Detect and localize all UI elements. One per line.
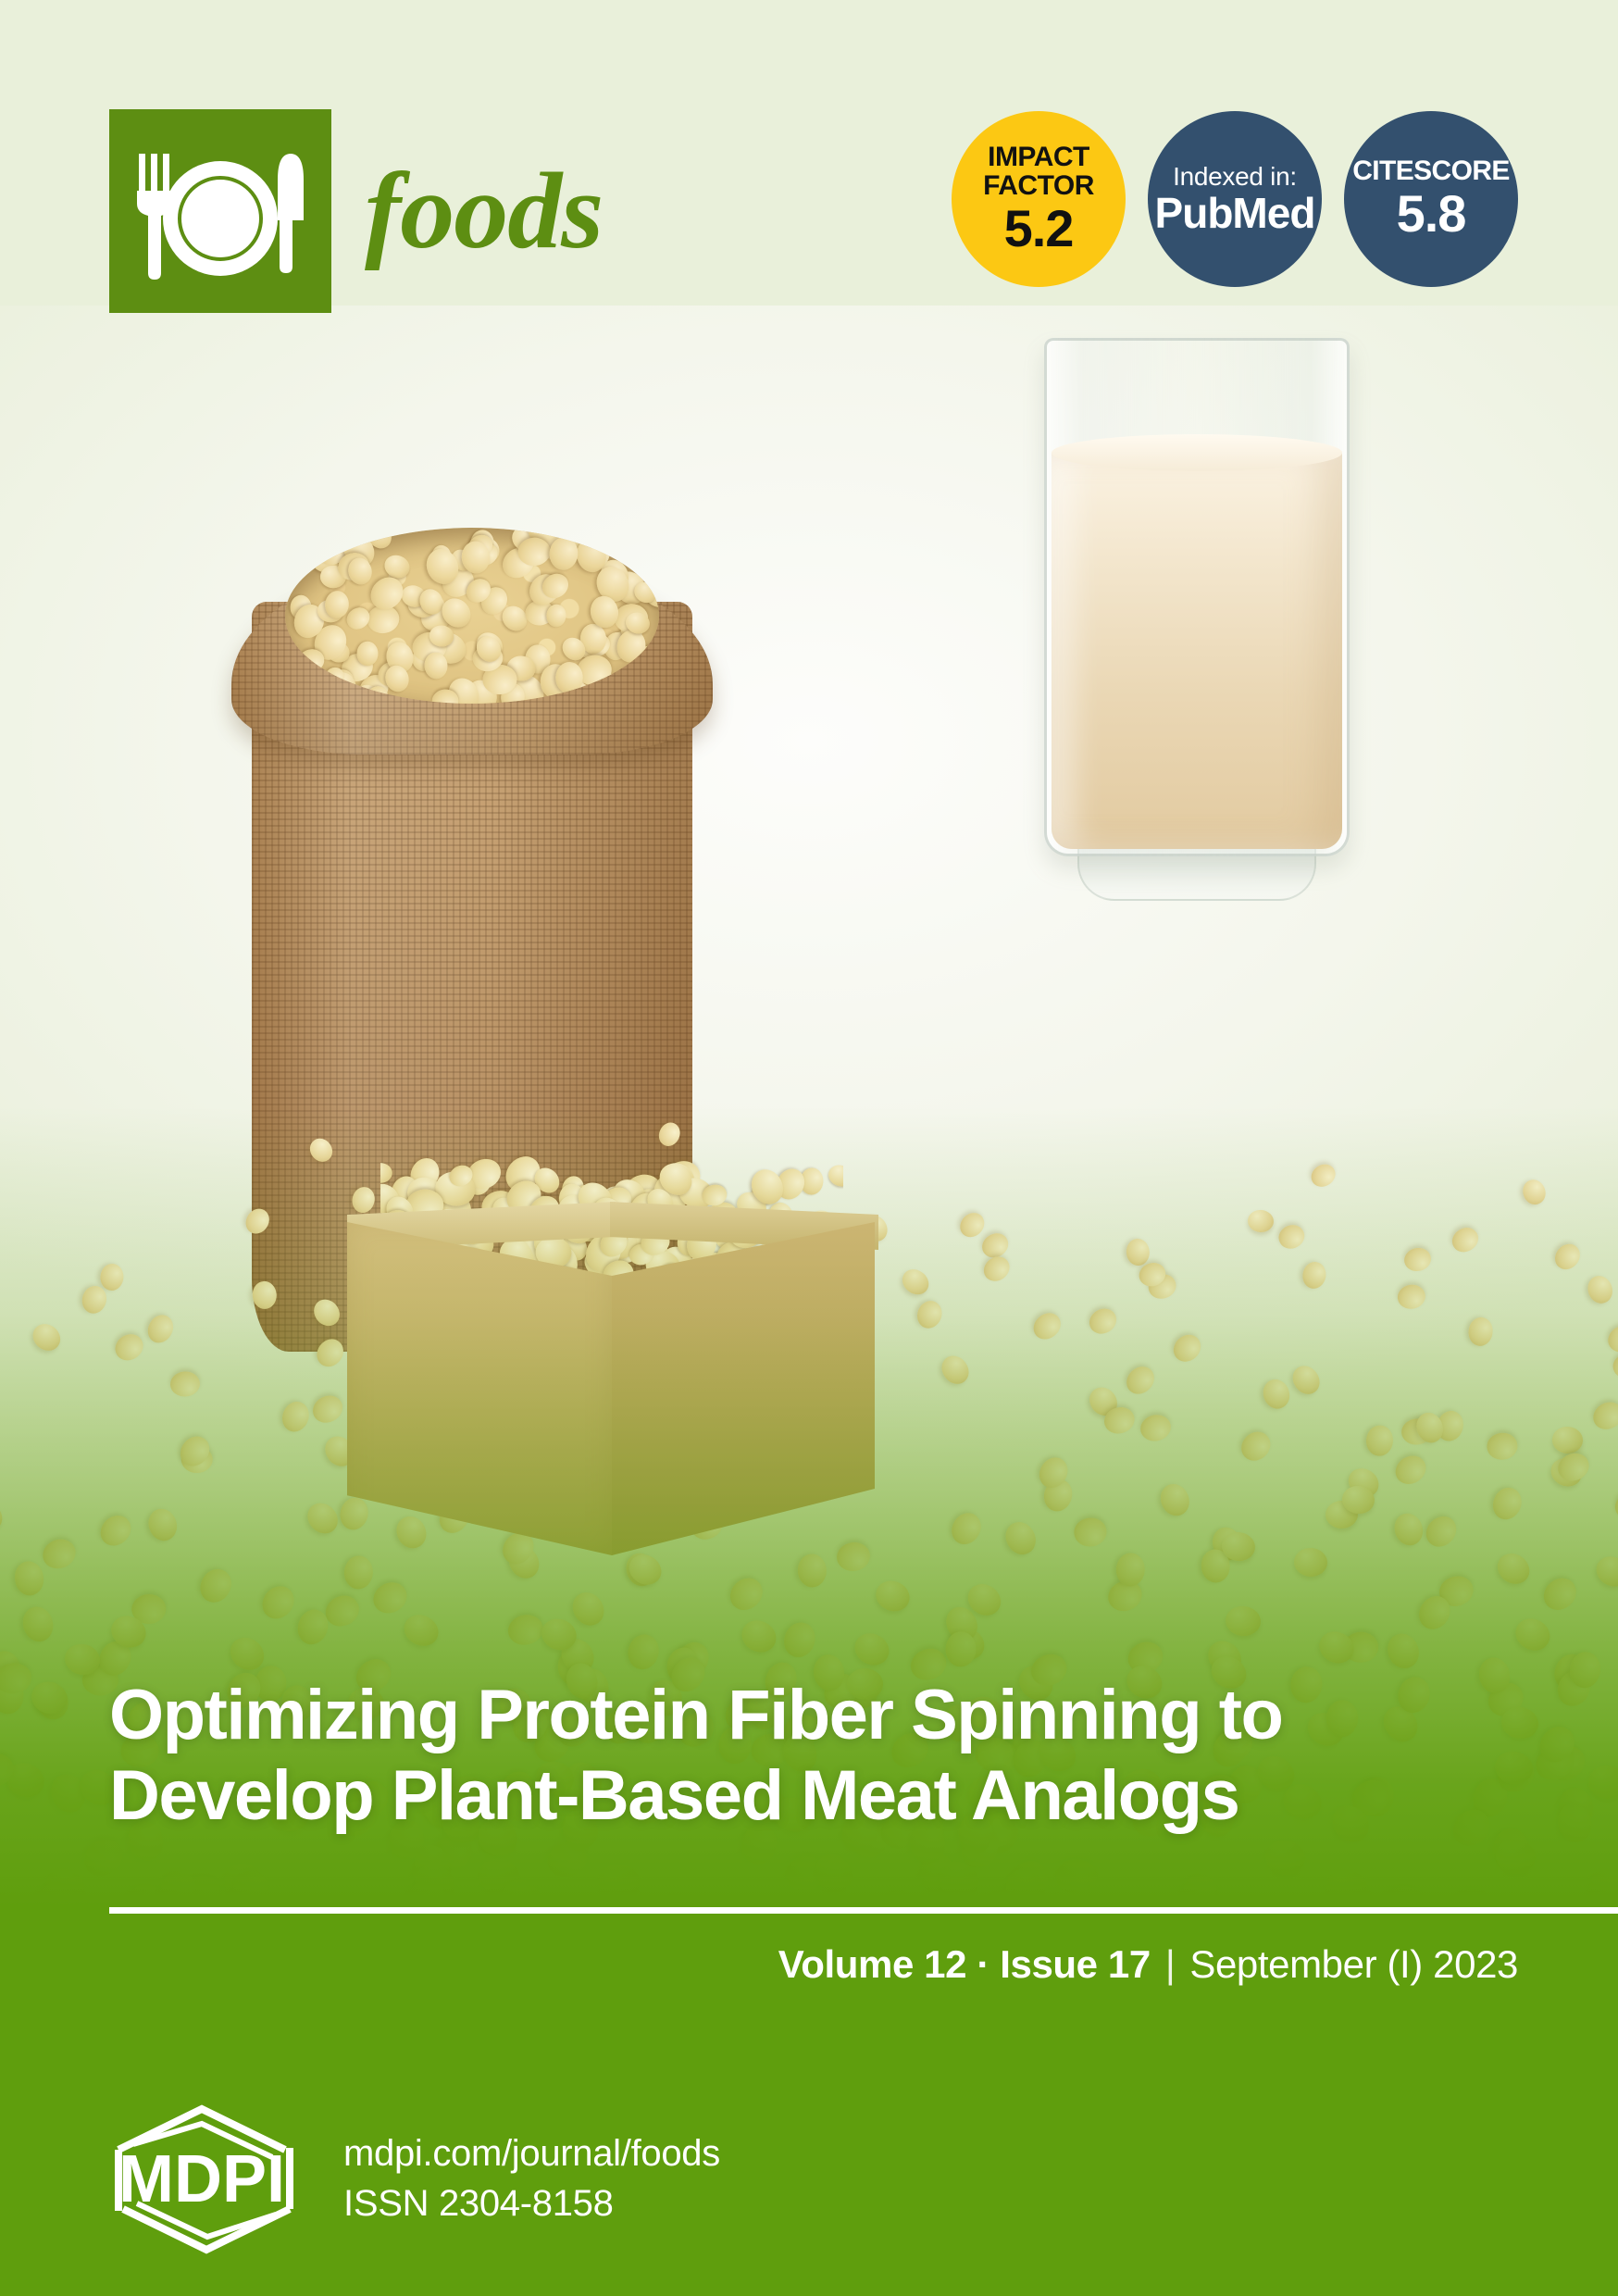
- cover-title-line2: Develop Plant-Based Meat Analogs: [109, 1756, 1238, 1835]
- journal-url[interactable]: mdpi.com/journal/foods: [343, 2129, 720, 2179]
- cover-title: Optimizing Protein Fiber Spinning to Dev…: [109, 1676, 1553, 1836]
- impact-factor-line1: IMPACT: [988, 143, 1089, 171]
- mdpi-logo-icon[interactable]: MDPI: [109, 2102, 299, 2257]
- volume-issue: Volume 12 · Issue 17: [778, 1942, 1151, 1987]
- svg-text:MDPI: MDPI: [118, 2142, 285, 2216]
- pubmed-value: PubMed: [1155, 192, 1315, 236]
- metric-badges: IMPACT FACTOR 5.2 Indexed in: PubMed CIT…: [952, 111, 1518, 287]
- badge-pubmed[interactable]: Indexed in: PubMed: [1148, 111, 1322, 287]
- cover-title-line1: Optimizing Protein Fiber Spinning to: [109, 1676, 1282, 1754]
- issue-line: Volume 12 · Issue 17 | September (I) 202…: [778, 1942, 1518, 1987]
- cover-title-block: Optimizing Protein Fiber Spinning to Dev…: [109, 1676, 1553, 1836]
- fork-plate-knife-icon: [109, 109, 331, 313]
- box-face-right: [612, 1222, 875, 1555]
- title-divider-rule: [109, 1907, 1618, 1914]
- soy-milk-glass: [1044, 338, 1350, 893]
- milk-surface: [1052, 434, 1342, 471]
- cover-footer: MDPI mdpi.com/journal/foods ISSN 2304-81…: [109, 2102, 720, 2257]
- badge-citescore[interactable]: CITESCORE 5.8: [1344, 111, 1518, 287]
- cover-header: foods IMPACT FACTOR 5.2 Indexed in: PubM…: [0, 0, 1618, 306]
- journal-wordmark: foods: [365, 156, 603, 266]
- sack-beans: [285, 528, 659, 704]
- badge-impact-factor[interactable]: IMPACT FACTOR 5.2: [952, 111, 1126, 287]
- issue-separator: |: [1165, 1942, 1176, 1987]
- impact-factor-value: 5.2: [1004, 202, 1074, 256]
- citescore-label: CITESCORE: [1352, 156, 1510, 185]
- box-face-left: [347, 1222, 612, 1555]
- wooden-box: [347, 1120, 875, 1620]
- pubmed-label: Indexed in:: [1173, 163, 1297, 190]
- footer-text: mdpi.com/journal/foods ISSN 2304-8158: [343, 2129, 720, 2228]
- sack-bean-cluster: [285, 528, 659, 704]
- issue-date: September (I) 2023: [1189, 1942, 1518, 1987]
- milk-liquid: [1052, 449, 1342, 849]
- citescore-value: 5.8: [1397, 187, 1466, 241]
- journal-logo[interactable]: foods: [109, 109, 603, 313]
- impact-factor-line2: FACTOR: [983, 171, 1094, 200]
- journal-cover: foods IMPACT FACTOR 5.2 Indexed in: PubM…: [0, 0, 1618, 2296]
- journal-issn: ISSN 2304-8158: [343, 2179, 720, 2229]
